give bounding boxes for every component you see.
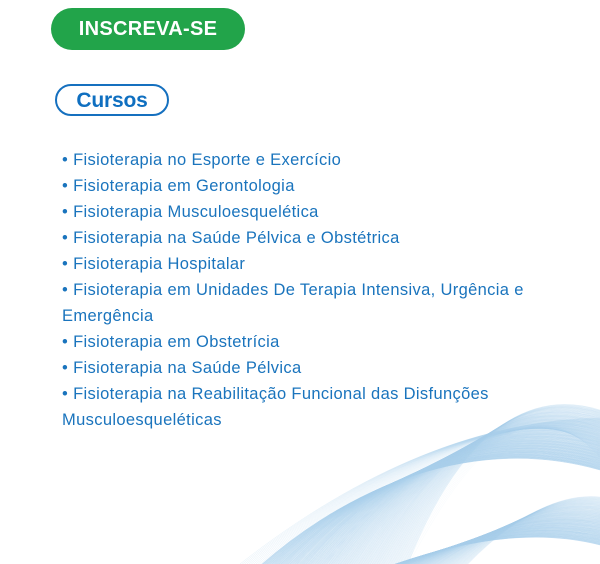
list-item-label: Fisioterapia em Obstetrícia [73, 333, 280, 351]
bullet-icon: • [62, 177, 73, 195]
list-item: • Fisioterapia no Esporte e Exercício [62, 147, 532, 173]
bullet-icon: • [62, 385, 73, 403]
list-item-label: Fisioterapia na Saúde Pélvica [73, 359, 301, 377]
list-item-label: Fisioterapia em Unidades De Terapia Inte… [62, 281, 524, 325]
bullet-icon: • [62, 255, 73, 273]
list-item: • Fisioterapia em Obstetrícia [62, 329, 532, 355]
list-item: • Fisioterapia Musculoesquelética [62, 199, 532, 225]
list-item-label: Fisioterapia na Saúde Pélvica e Obstétri… [73, 229, 400, 247]
courses-heading-pill: Cursos [55, 84, 169, 116]
list-item: • Fisioterapia em Unidades De Terapia In… [62, 277, 532, 329]
bullet-icon: • [62, 229, 73, 247]
bullet-icon: • [62, 333, 73, 351]
list-item: • Fisioterapia em Gerontologia [62, 173, 532, 199]
list-item-label: Fisioterapia Hospitalar [73, 255, 245, 273]
list-item-label: Fisioterapia no Esporte e Exercício [73, 151, 341, 169]
subscribe-button[interactable]: INSCREVA-SE [51, 8, 245, 50]
bullet-icon: • [62, 359, 73, 377]
list-item: • Fisioterapia Hospitalar [62, 251, 532, 277]
list-item: • Fisioterapia na Reabilitação Funcional… [62, 381, 532, 433]
promo-page: INSCREVA-SE Cursos • Fisioterapia no Esp… [0, 0, 600, 564]
list-item-label: Fisioterapia em Gerontologia [73, 177, 295, 195]
bullet-icon: • [62, 203, 73, 221]
list-item: • Fisioterapia na Saúde Pélvica [62, 355, 532, 381]
bullet-icon: • [62, 151, 73, 169]
list-item: • Fisioterapia na Saúde Pélvica e Obstét… [62, 225, 532, 251]
list-item-label: Fisioterapia na Reabilitação Funcional d… [62, 385, 489, 429]
page-title: Cursos [76, 90, 147, 111]
bullet-icon: • [62, 281, 73, 299]
list-item-label: Fisioterapia Musculoesquelética [73, 203, 319, 221]
course-list: • Fisioterapia no Esporte e Exercício• F… [62, 147, 532, 433]
